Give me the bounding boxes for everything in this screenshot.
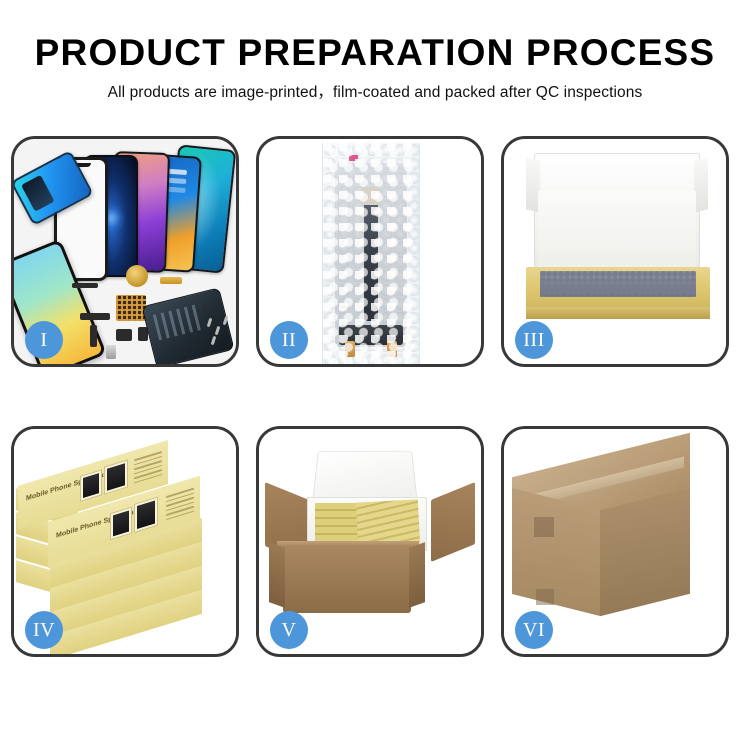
step-panel-5[interactable]: V	[256, 426, 484, 657]
carton-front-face	[283, 545, 411, 613]
step-panel-3[interactable]: III	[501, 136, 729, 367]
yellow-boxes-row-back	[356, 499, 420, 546]
earpiece-mesh-part	[72, 283, 98, 288]
step-numeral-5: V	[282, 620, 297, 640]
flex-cable-part	[80, 313, 110, 320]
step-numeral-3: III	[523, 330, 544, 350]
page-header: PRODUCT PREPARATION PROCESS All products…	[0, 0, 750, 101]
step-numeral-4: IV	[33, 620, 55, 640]
sealed-carton-left-face	[512, 488, 600, 616]
logic-chip-part	[116, 295, 146, 321]
bubble-texture	[323, 143, 419, 364]
sim-tray-part	[106, 345, 116, 359]
sealed-carton-handle-tab-upper	[534, 517, 554, 537]
sealed-carton-handle-tab-lower	[536, 589, 554, 605]
bubble-wrap-bag	[322, 143, 420, 364]
screw-set	[206, 314, 232, 348]
page-title: PRODUCT PREPARATION PROCESS	[0, 34, 750, 71]
step-badge-3: III	[515, 321, 553, 359]
step-panel-2[interactable]: II	[256, 136, 484, 367]
step-badge-5: V	[270, 611, 308, 649]
step-panel-1[interactable]: I	[11, 136, 239, 367]
tray-front-lip	[526, 307, 710, 319]
battery-connector-part	[116, 329, 132, 341]
step-numeral-2: II	[282, 330, 296, 350]
yellow-tray-box	[526, 267, 710, 319]
white-foam-sheet	[538, 191, 696, 271]
step-badge-6: VI	[515, 611, 553, 649]
step-badge-4: IV	[25, 611, 63, 649]
process-step-grid: I II	[0, 136, 750, 657]
step-panel-6[interactable]: VI	[501, 426, 729, 657]
flex-cable-gold-part	[160, 277, 182, 284]
step-numeral-6: VI	[523, 620, 545, 640]
antistatic-bubble-insert	[540, 271, 696, 297]
volume-button-part	[90, 325, 97, 347]
step-badge-1: I	[25, 321, 63, 359]
step-numeral-1: I	[40, 330, 47, 350]
page-subtitle: All products are image-printed，film-coat…	[0, 85, 750, 101]
step-panel-4[interactable]: Mobile Phone Spare Parts Mobile Phone Sp…	[11, 426, 239, 657]
step-badge-2: II	[270, 321, 308, 359]
sealed-carton-right-face	[600, 488, 690, 616]
speaker-coil-part	[126, 265, 148, 287]
